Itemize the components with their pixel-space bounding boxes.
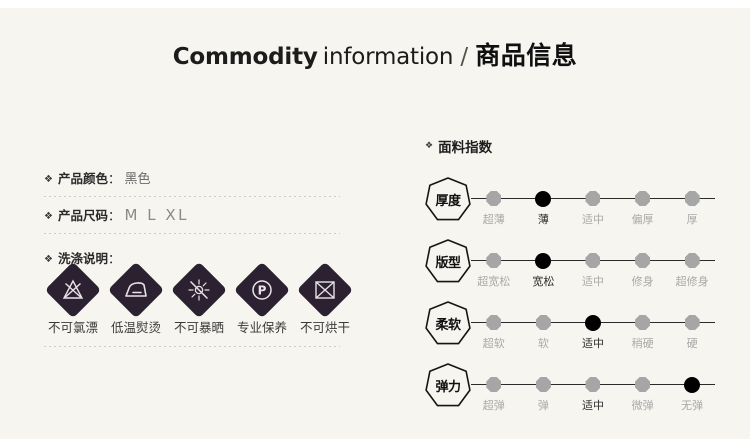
scale-dot[interactable] xyxy=(486,253,501,268)
scale-dot-label: 稍硬 xyxy=(632,335,654,351)
title-en-light: information xyxy=(323,44,454,70)
scale-dot[interactable] xyxy=(635,377,650,392)
scale-dot[interactable] xyxy=(585,377,600,392)
scale-dot-cell[interactable]: 薄 xyxy=(519,172,569,228)
care-label: 不可暴晒 xyxy=(170,317,228,336)
scale-dot[interactable] xyxy=(685,253,700,268)
no-tumble-dry-icon xyxy=(311,276,339,304)
fabric-index-row: 柔软超软软适中稍硬硬 xyxy=(425,296,725,358)
care-badge xyxy=(171,262,228,319)
scale-dot-cell[interactable]: 适中 xyxy=(568,296,618,352)
title-slash: / xyxy=(458,44,470,70)
fabric-index-badge-label: 弹力 xyxy=(425,362,471,408)
scale-dot[interactable] xyxy=(685,315,700,330)
scale-dot-label: 适中 xyxy=(582,335,604,351)
spec-label-wash: 洗涤说明 xyxy=(58,248,108,267)
scale-dot-label: 厚 xyxy=(687,211,698,227)
divider xyxy=(44,346,340,347)
scale-dot-cell[interactable]: 微弹 xyxy=(618,358,668,414)
scale-dot-cell[interactable]: 超软 xyxy=(469,296,519,352)
scale-dot-label: 修身 xyxy=(632,273,654,289)
scale-dot-label: 适中 xyxy=(582,273,604,289)
spec-colon: ： xyxy=(108,248,121,267)
title-en-bold: Commodity xyxy=(173,44,318,70)
no-sun-exposure-icon xyxy=(185,276,213,304)
scale-dot-cell[interactable]: 无弹 xyxy=(667,358,717,414)
scale-dot-label: 薄 xyxy=(538,211,549,227)
scale-dot-cell[interactable]: 超薄 xyxy=(469,172,519,228)
scale-dot-label: 超弹 xyxy=(483,397,505,413)
scale-dot-cell[interactable]: 超宽松 xyxy=(469,234,519,290)
scale-dot-label: 超宽松 xyxy=(477,273,510,289)
scale-dot-cell[interactable]: 适中 xyxy=(568,358,618,414)
scale-dot-selected[interactable] xyxy=(535,191,551,207)
no-chlorine-bleach-icon xyxy=(59,276,87,304)
spec-label-color: 产品颜色 xyxy=(58,168,108,187)
product-info-page: Commodity information / 商品信息 ❖ 产品颜色 ： 黑色… xyxy=(0,8,750,439)
scale-dot[interactable] xyxy=(486,377,501,392)
scale-dots: 超弹弹适中微弹无弹 xyxy=(469,358,717,414)
care-badge xyxy=(45,262,102,319)
care-badge xyxy=(108,262,165,319)
care-item-no-tumble-dry: 不可烘干 xyxy=(296,270,354,336)
fabric-index-scale: 超软软适中稍硬硬 xyxy=(469,296,717,352)
fabric-index-row: 弹力超弹弹适中微弹无弹 xyxy=(425,358,725,420)
scale-dot-cell[interactable]: 适中 xyxy=(568,172,618,228)
scale-dot-cell[interactable]: 厚 xyxy=(667,172,717,228)
svg-text:P: P xyxy=(258,284,267,298)
fabric-index-badge: 柔软 xyxy=(425,300,471,346)
scale-dot-cell[interactable]: 超修身 xyxy=(667,234,717,290)
fabric-index-badge-label: 柔软 xyxy=(425,300,471,346)
scale-dot-cell[interactable]: 修身 xyxy=(618,234,668,290)
scale-dot-cell[interactable]: 弹 xyxy=(519,358,569,414)
scale-dot-cell[interactable]: 稍硬 xyxy=(618,296,668,352)
scale-dot[interactable] xyxy=(635,191,650,206)
scale-dot-label: 适中 xyxy=(582,211,604,227)
scale-dot[interactable] xyxy=(486,315,501,330)
care-item-no-chlorine-bleach: 不可氯漂 xyxy=(44,270,102,336)
care-badge: P xyxy=(234,262,291,319)
scale-dot-cell[interactable]: 软 xyxy=(519,296,569,352)
fabric-index-badge-label: 厚度 xyxy=(425,176,471,222)
care-label: 不可氯漂 xyxy=(44,317,102,336)
scale-dot[interactable] xyxy=(536,315,551,330)
care-item-no-sun-exposure: 不可暴晒 xyxy=(170,270,228,336)
scale-dots: 超软软适中稍硬硬 xyxy=(469,296,717,352)
fabric-index-badge: 厚度 xyxy=(425,176,471,222)
spec-colon: ： xyxy=(108,168,121,187)
scale-dot-cell[interactable]: 宽松 xyxy=(519,234,569,290)
scale-dot-label: 超修身 xyxy=(676,273,709,289)
scale-dot-label: 宽松 xyxy=(532,273,554,289)
scale-dot-cell[interactable]: 偏厚 xyxy=(618,172,668,228)
care-item-low-temperature-iron: 低温熨烫 xyxy=(107,270,165,336)
scale-dot-selected[interactable] xyxy=(585,315,601,331)
care-label: 不可烘干 xyxy=(296,317,354,336)
scale-dot-label: 硬 xyxy=(687,335,698,351)
care-label: 专业保养 xyxy=(233,317,291,336)
fabric-index-badge-label: 版型 xyxy=(425,238,471,284)
scale-dot[interactable] xyxy=(635,253,650,268)
scale-dot-label: 超薄 xyxy=(483,211,505,227)
spec-value-color: 黑色 xyxy=(125,168,151,187)
scale-dot-label: 微弹 xyxy=(632,397,654,413)
fabric-index-heading-text: 面料指数 xyxy=(438,136,492,156)
fabric-index-scale: 超宽松宽松适中修身超修身 xyxy=(469,234,717,290)
scale-dot-label: 超软 xyxy=(483,335,505,351)
care-label: 低温熨烫 xyxy=(107,317,165,336)
care-instruction-row: 不可氯漂 低温熨烫 xyxy=(44,270,354,336)
professional-care-icon: P xyxy=(248,276,276,304)
scale-dot[interactable] xyxy=(635,315,650,330)
divider xyxy=(44,233,340,234)
spec-label-size: 产品尺码 xyxy=(58,205,108,224)
spec-colon: ： xyxy=(108,205,121,224)
scale-dots: 超宽松宽松适中修身超修身 xyxy=(469,234,717,290)
spec-row-color: ❖ 产品颜色 ： 黑色 xyxy=(44,168,344,190)
fabric-index-row: 厚度超薄薄适中偏厚厚 xyxy=(425,172,725,234)
fabric-index-panel: ❖ 面料指数 厚度超薄薄适中偏厚厚版型超宽松宽松适中修身超修身柔软超软软适中稍硬… xyxy=(425,136,725,420)
care-item-professional-care: P 专业保养 xyxy=(233,270,291,336)
clover-bullet-icon: ❖ xyxy=(44,175,53,185)
scale-dots: 超薄薄适中偏厚厚 xyxy=(469,172,717,228)
scale-dot-label: 软 xyxy=(538,335,549,351)
scale-dot-label: 偏厚 xyxy=(632,211,654,227)
scale-dot-cell[interactable]: 硬 xyxy=(667,296,717,352)
product-spec-panel: ❖ 产品颜色 ： 黑色 ❖ 产品尺码 ： M L XL ❖ 洗涤说明 ： xyxy=(44,168,344,270)
spec-row-size: ❖ 产品尺码 ： M L XL xyxy=(44,205,344,227)
scale-dot-cell[interactable]: 适中 xyxy=(568,234,618,290)
clover-bullet-icon: ❖ xyxy=(44,255,53,265)
low-temperature-iron-icon xyxy=(122,276,150,304)
care-badge xyxy=(297,262,354,319)
fabric-index-scale: 超薄薄适中偏厚厚 xyxy=(469,172,717,228)
fabric-index-badge: 版型 xyxy=(425,238,471,284)
scale-dot[interactable] xyxy=(585,253,600,268)
clover-bullet-icon: ❖ xyxy=(425,142,433,151)
spec-value-size: M L XL xyxy=(125,206,189,224)
fabric-index-row: 版型超宽松宽松适中修身超修身 xyxy=(425,234,725,296)
scale-dot-cell[interactable]: 超弹 xyxy=(469,358,519,414)
title-cn: 商品信息 xyxy=(475,41,577,70)
scale-dot-label: 无弹 xyxy=(681,397,703,413)
page-title: Commodity information / 商品信息 xyxy=(0,36,750,72)
scale-dot[interactable] xyxy=(486,191,501,206)
fabric-index-rows: 厚度超薄薄适中偏厚厚版型超宽松宽松适中修身超修身柔软超软软适中稍硬硬弹力超弹弹适… xyxy=(425,172,725,420)
scale-dot-label: 适中 xyxy=(582,397,604,413)
scale-dot-selected[interactable] xyxy=(684,377,700,393)
scale-dot[interactable] xyxy=(685,191,700,206)
divider xyxy=(44,196,340,197)
fabric-index-heading: ❖ 面料指数 xyxy=(425,136,725,156)
fabric-index-scale: 超弹弹适中微弹无弹 xyxy=(469,358,717,414)
scale-dot[interactable] xyxy=(536,377,551,392)
fabric-index-badge: 弹力 xyxy=(425,362,471,408)
scale-dot-selected[interactable] xyxy=(535,253,551,269)
scale-dot-label: 弹 xyxy=(538,397,549,413)
clover-bullet-icon: ❖ xyxy=(44,212,53,222)
scale-dot[interactable] xyxy=(585,191,600,206)
